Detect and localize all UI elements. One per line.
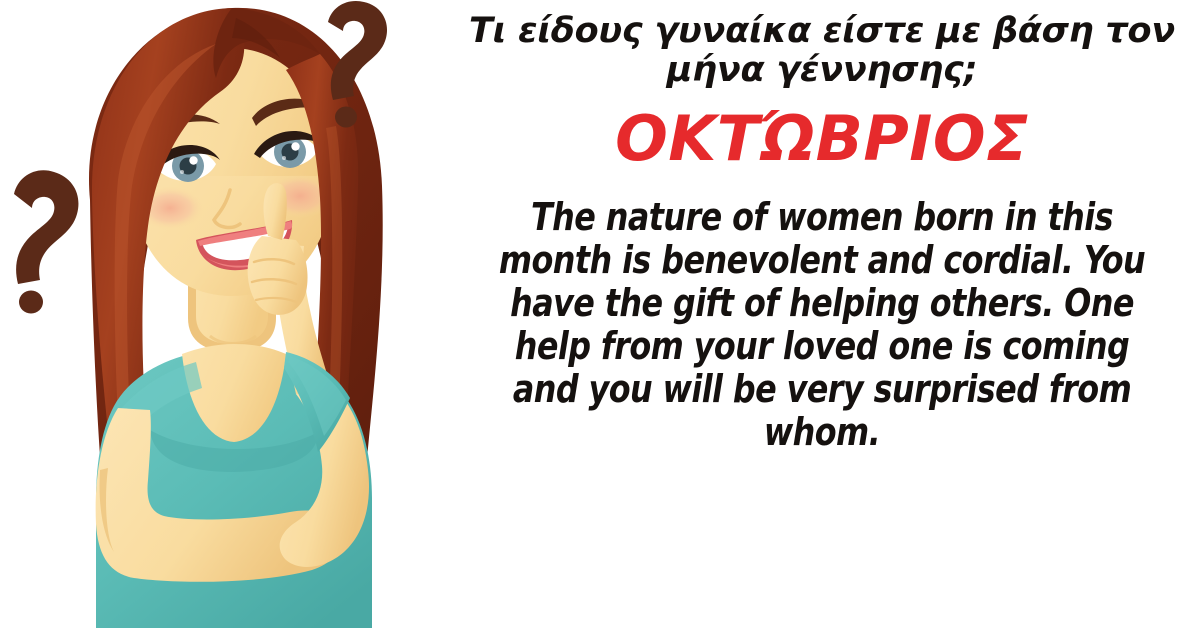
text-panel: Τι είδους γυναίκα είστε με βάση τον μήνα… [448, 0, 1200, 628]
question-mark-lower-left-icon [14, 170, 78, 313]
illustration-panel [0, 0, 448, 628]
description-text: The nature of women born in this month i… [483, 196, 1160, 454]
headline-question: Τι είδους γυναίκα είστε με βάση τον μήνα… [458, 12, 1186, 90]
thinking-woman-illustration [0, 0, 448, 628]
month-title: ΟΚΤΏΒΡΙΟΣ [458, 108, 1186, 170]
horoscope-card: Τι είδους γυναίκα είστε με βάση τον μήνα… [0, 0, 1200, 628]
